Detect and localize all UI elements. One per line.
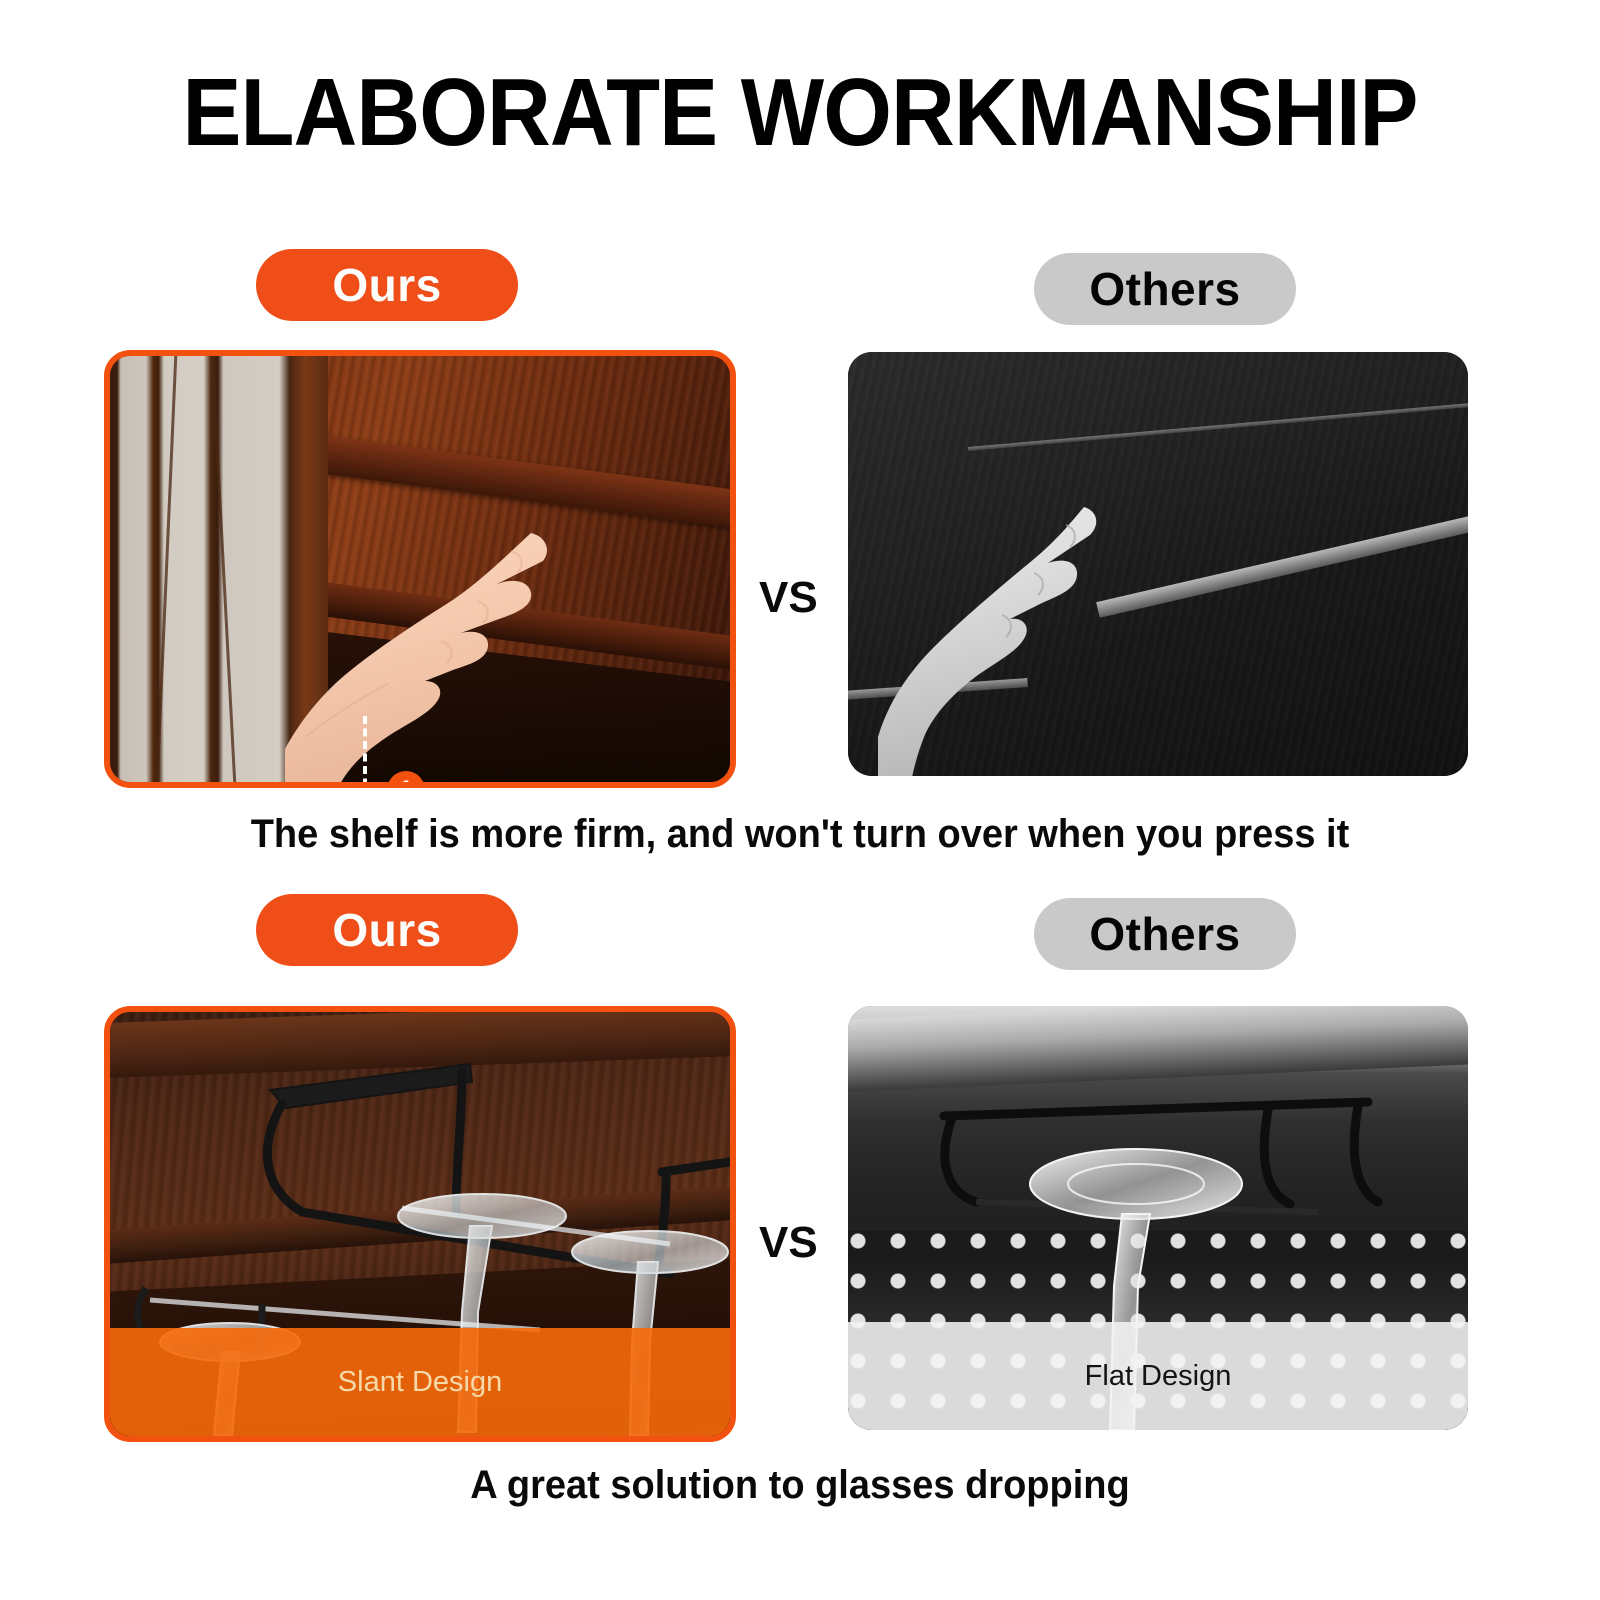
vs-label-top: VS: [759, 573, 818, 623]
hand-illustration: [285, 511, 585, 782]
caption-glass-rack: A great solution to glasses dropping: [40, 1463, 1560, 1508]
photo-content: [848, 352, 1468, 776]
slant-design-label: Slant Design: [338, 1366, 502, 1399]
photo-others-shelf-firmness: [848, 352, 1468, 776]
flat-design-band: Flat Design: [848, 1322, 1468, 1430]
photo-ours-slant-design: Slant Design: [104, 1006, 736, 1442]
photo-ours-shelf-firmness: 1 2: [104, 350, 736, 788]
page-title: ELABORATE WORKMANSHIP: [64, 58, 1536, 168]
badge-others-bottom: Others: [1034, 898, 1296, 970]
badge-ours-bottom: Ours: [256, 894, 518, 966]
photo-content: 1 2: [110, 356, 730, 782]
caption-shelf-firmness: The shelf is more firm, and won't turn o…: [40, 812, 1560, 857]
slant-design-band: Slant Design: [110, 1328, 730, 1436]
badge-ours-top: Ours: [256, 249, 518, 321]
light-wood-slats: [110, 356, 290, 782]
photo-content: Slant Design: [110, 1012, 730, 1436]
infographic-page: ELABORATE WORKMANSHIP Ours Others: [0, 0, 1600, 1600]
badge-others-top: Others: [1034, 253, 1296, 325]
dashed-vertical-guide: [363, 716, 367, 782]
photo-others-flat-design: Flat Design: [848, 1006, 1468, 1430]
vs-label-bottom: VS: [759, 1218, 818, 1268]
photo-content: Flat Design: [848, 1006, 1468, 1430]
hand-illustration-gray: [878, 487, 1138, 776]
flat-design-label: Flat Design: [1085, 1360, 1232, 1393]
